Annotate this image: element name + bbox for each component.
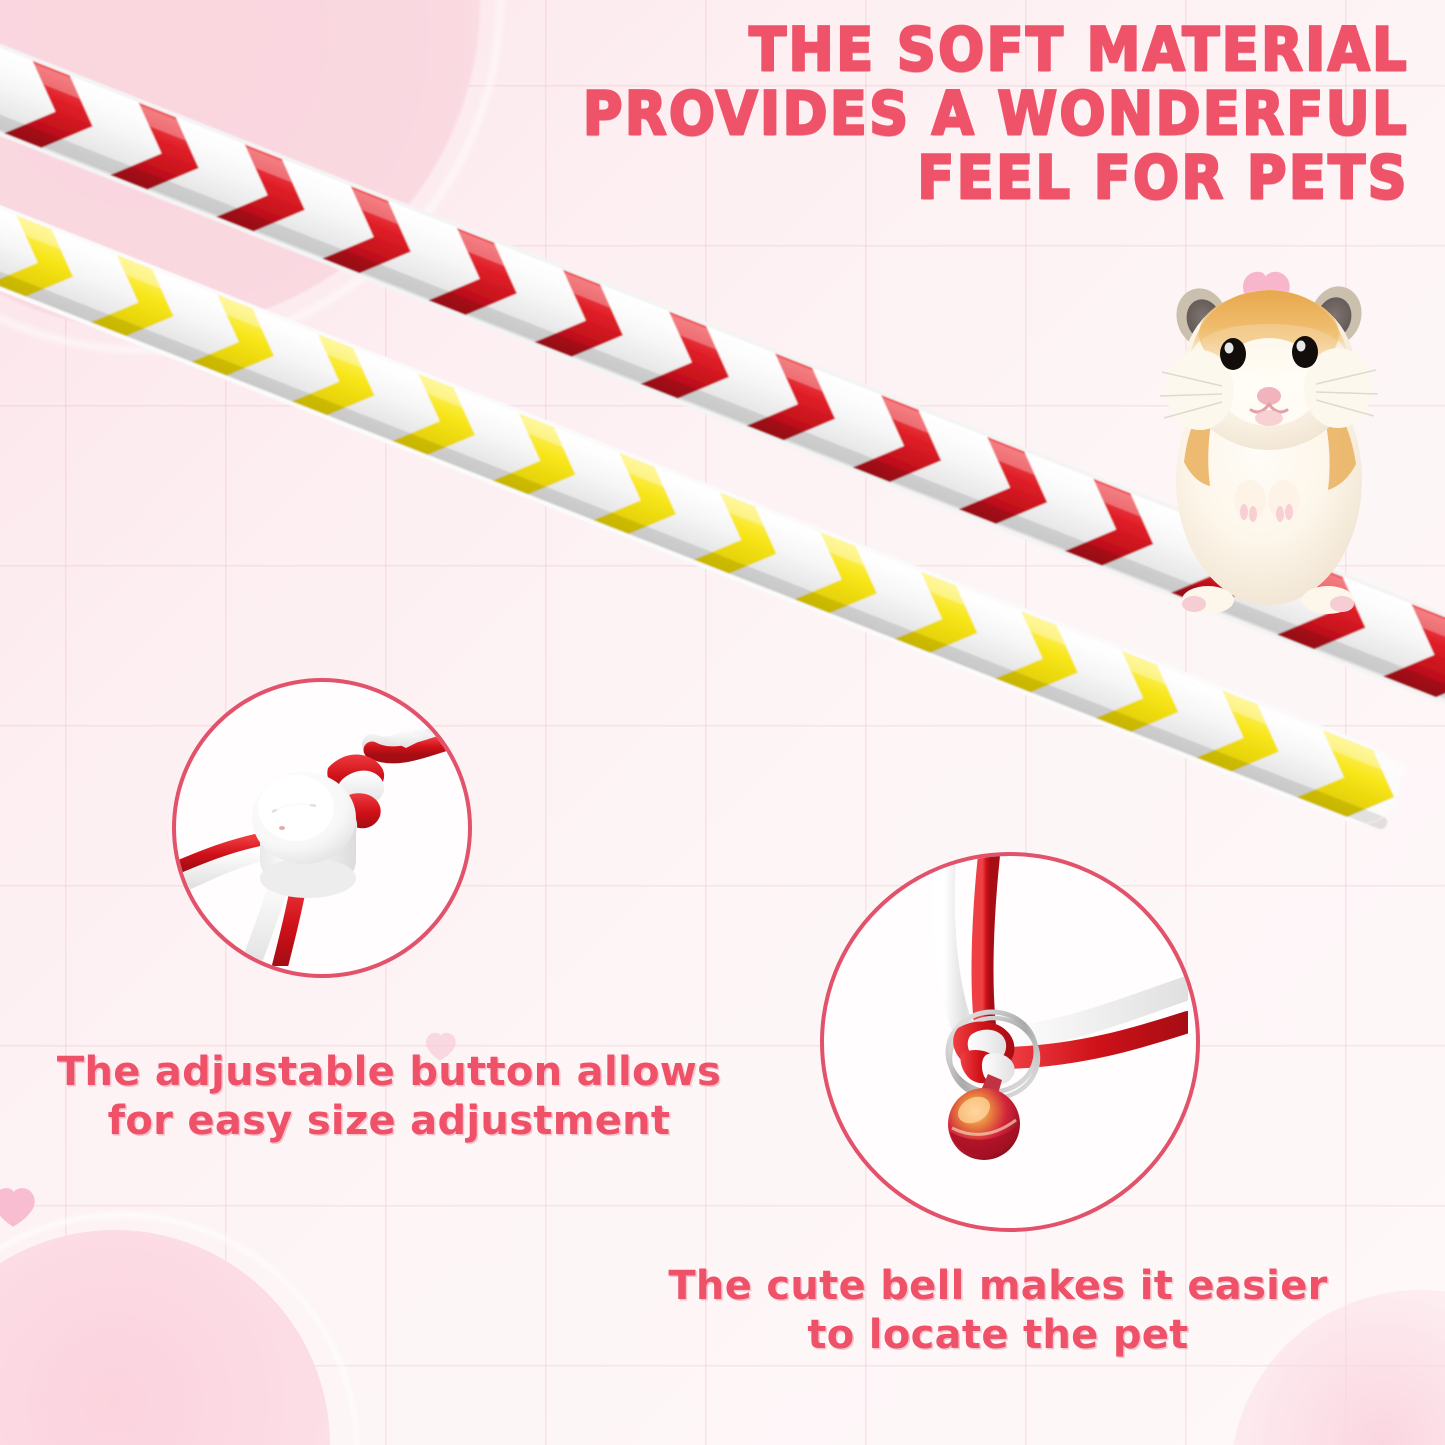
- caption-adjustable-button: The adjustable button allows for easy si…: [44, 1048, 734, 1146]
- callout-adjustable-button: [172, 678, 472, 978]
- adjustable-toggle-photo: [176, 682, 460, 966]
- caption-bell-line-2: to locate the pet: [652, 1311, 1344, 1360]
- caption-bell: The cute bell makes it easier to locate …: [652, 1262, 1344, 1360]
- callout-bell: [820, 852, 1200, 1232]
- product-feature-image: THE SOFT MATERIAL PROVIDES A WONDERFUL F…: [0, 0, 1445, 1445]
- heart-icon-bottom-left: [0, 1176, 44, 1234]
- bell-and-ring-photo: [824, 856, 1188, 1220]
- hamster-photo: [1160, 262, 1378, 624]
- caption-bell-line-1: The cute bell makes it easier: [652, 1262, 1344, 1311]
- caption-adjustable-line-2: for easy size adjustment: [44, 1097, 734, 1146]
- caption-adjustable-line-1: The adjustable button allows: [44, 1048, 734, 1097]
